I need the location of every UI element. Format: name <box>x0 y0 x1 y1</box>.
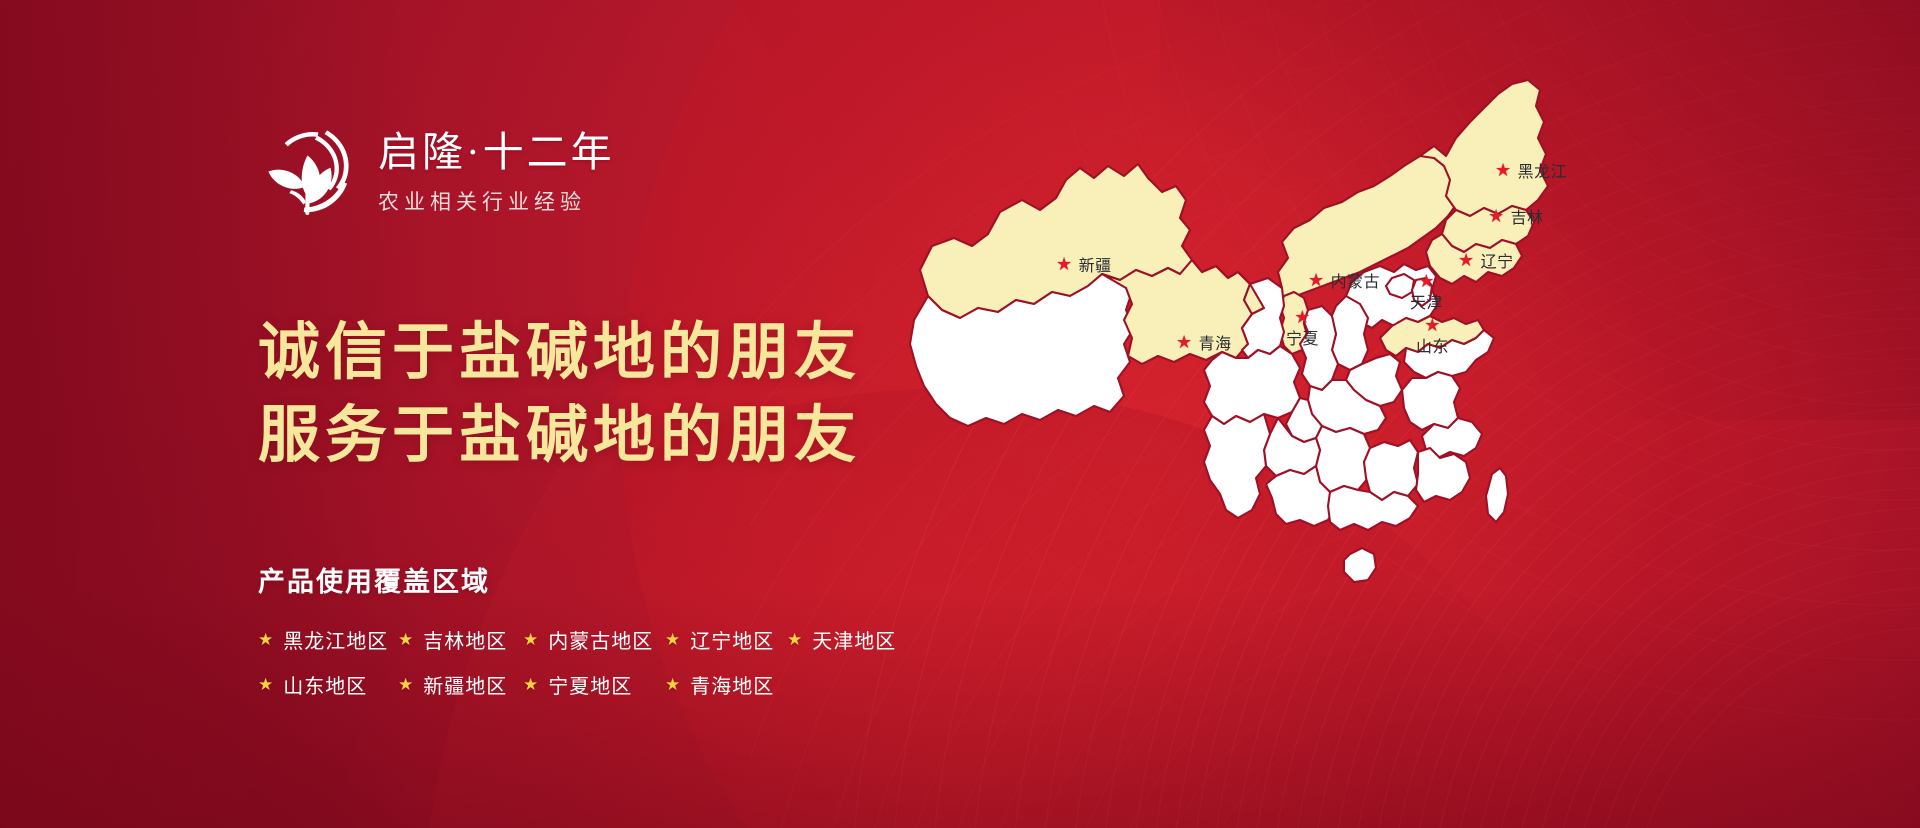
coverage-title: 产品使用覆盖区域 <box>258 560 958 599</box>
region-item-qinghai[interactable]: ★ 青海地区 <box>665 670 787 699</box>
map-marker-xinjiang: ★ 新疆 <box>1056 252 1112 276</box>
province-yunnan <box>1204 414 1270 518</box>
region-row: ★ 黑龙江地区 ★ 吉林地区 ★ 内蒙古地区 ★ 辽宁地区 <box>258 625 958 654</box>
star-icon: ★ <box>523 631 539 648</box>
region-label: 黑龙江地区 <box>283 625 388 654</box>
region-label: 内蒙古地区 <box>548 625 653 654</box>
star-icon: ★ <box>258 676 274 693</box>
star-marker-icon: ★ <box>1308 271 1325 289</box>
china-map: ★ 黑龙江 ★ 吉林 ★ 辽宁 ★ 内蒙古 ★ 天津 ★ 山东 ★ 宁夏 ★ 新 <box>880 60 1620 760</box>
map-marker-label: 内蒙古 <box>1331 268 1381 292</box>
province-anhui <box>1402 372 1460 430</box>
brand-text: 启隆·十二年 农业相关行业经验 <box>378 128 615 215</box>
headline-line-2: 服务于盐碱地的朋友 <box>258 395 861 478</box>
star-marker-icon: ★ <box>1418 272 1435 290</box>
headline-line-1: 诚信于盐碱地的朋友 <box>258 312 861 395</box>
star-icon: ★ <box>523 676 539 693</box>
province-sichuan <box>1204 346 1300 424</box>
map-marker-label: 青海 <box>1199 330 1232 354</box>
star-marker-icon: ★ <box>1176 333 1193 351</box>
map-marker-heilongjiang: ★ 黑龙江 <box>1495 158 1567 182</box>
province-taiwan <box>1486 468 1508 522</box>
map-marker-liaoning: ★ 辽宁 <box>1458 248 1514 272</box>
star-marker-icon: ★ <box>1424 316 1441 334</box>
map-marker-label: 天津 <box>1410 289 1443 313</box>
map-marker-shandong: ★ 山东 <box>1416 316 1449 357</box>
region-item-liaoning[interactable]: ★ 辽宁地区 <box>665 625 787 654</box>
star-marker-icon: ★ <box>1294 308 1311 326</box>
region-list: ★ 黑龙江地区 ★ 吉林地区 ★ 内蒙古地区 ★ 辽宁地区 <box>258 625 958 699</box>
map-marker-label: 黑龙江 <box>1518 158 1568 182</box>
star-icon: ★ <box>398 631 414 648</box>
star-icon: ★ <box>258 631 274 648</box>
region-item-shandong[interactable]: ★ 山东地区 <box>258 670 398 699</box>
map-marker-label: 宁夏 <box>1286 325 1319 349</box>
star-marker-icon: ★ <box>1495 161 1512 179</box>
region-label: 青海地区 <box>690 670 774 699</box>
region-item-neimenggu[interactable]: ★ 内蒙古地区 <box>523 625 665 654</box>
brand-lockup: 启隆·十二年 农业相关行业经验 <box>258 122 615 222</box>
region-item-xinjiang[interactable]: ★ 新疆地区 <box>398 670 523 699</box>
star-icon: ★ <box>665 676 681 693</box>
region-item-jilin[interactable]: ★ 吉林地区 <box>398 625 523 654</box>
region-label: 新疆地区 <box>423 670 507 699</box>
map-marker-tianjin: ★ 天津 <box>1410 272 1443 313</box>
region-row: ★ 山东地区 ★ 新疆地区 ★ 宁夏地区 ★ 青海地区 <box>258 670 958 699</box>
region-item-heilongjiang[interactable]: ★ 黑龙江地区 <box>258 625 398 654</box>
brand-title: 启隆·十二年 <box>378 128 615 176</box>
province-jiangxi <box>1364 440 1418 500</box>
region-label: 宁夏地区 <box>548 670 632 699</box>
star-marker-icon: ★ <box>1488 207 1505 225</box>
map-marker-label: 辽宁 <box>1481 248 1514 272</box>
map-marker-jilin: ★ 吉林 <box>1488 204 1544 228</box>
province-hunan <box>1316 426 1370 492</box>
region-label: 辽宁地区 <box>690 625 774 654</box>
star-icon: ★ <box>787 631 803 648</box>
star-icon: ★ <box>665 631 681 648</box>
region-label: 吉林地区 <box>423 625 507 654</box>
star-icon: ★ <box>398 676 414 693</box>
province-hainan <box>1344 548 1376 582</box>
headline-block: 诚信于盐碱地的朋友 服务于盐碱地的朋友 <box>258 312 861 478</box>
star-marker-icon: ★ <box>1056 255 1073 273</box>
map-marker-label: 吉林 <box>1511 204 1544 228</box>
map-marker-ningxia: ★ 宁夏 <box>1286 308 1319 349</box>
leaf-emblem-icon <box>258 122 356 222</box>
region-item-ningxia[interactable]: ★ 宁夏地区 <box>523 670 665 699</box>
map-marker-neimenggu: ★ 内蒙古 <box>1308 268 1380 292</box>
brand-subtitle: 农业相关行业经验 <box>378 186 615 216</box>
map-marker-label: 山东 <box>1416 333 1449 357</box>
star-marker-icon: ★ <box>1458 251 1475 269</box>
promo-banner: 启隆·十二年 农业相关行业经验 诚信于盐碱地的朋友 服务于盐碱地的朋友 产品使用… <box>0 0 1920 828</box>
region-label: 山东地区 <box>283 670 367 699</box>
map-marker-label: 新疆 <box>1079 252 1112 276</box>
map-marker-qinghai: ★ 青海 <box>1176 330 1232 354</box>
coverage-section: 产品使用覆盖区域 ★ 黑龙江地区 ★ 吉林地区 ★ 内蒙古地区 <box>258 560 958 715</box>
